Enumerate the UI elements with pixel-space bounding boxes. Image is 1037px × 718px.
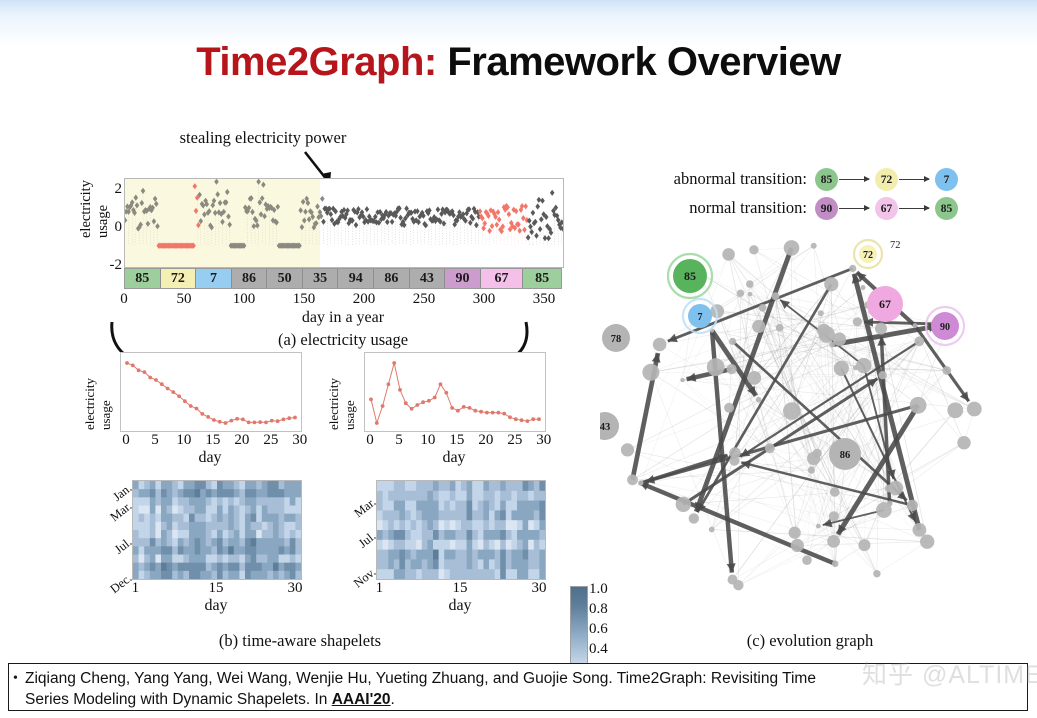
title-rest: Framework Overview <box>437 40 841 84</box>
timeseries-plot <box>124 178 564 268</box>
legend-label: normal transition: <box>645 198 815 218</box>
shapelet-xtick: 20 <box>478 432 493 449</box>
shapelet-xtick: 10 <box>420 432 435 449</box>
page-title: Time2Graph: Framework Overview <box>0 40 1037 85</box>
segment-label: 35 <box>313 271 327 287</box>
shapelet-xtick: 10 <box>176 432 191 449</box>
legend-node-chain: 906785 <box>815 195 985 221</box>
heatmap-right: Mar. Jul. Nov. 1 15 30 day <box>330 476 560 596</box>
shapelet-xtick: 30 <box>292 432 307 449</box>
panel-b-caption: (b) time-aware shapelets <box>120 631 480 651</box>
shapelet-right-xticks: 051015202530 <box>364 432 544 450</box>
segment-label: 86 <box>242 271 256 287</box>
svg-text:86: 86 <box>840 450 851 461</box>
segment-7[interactable]: 86 <box>374 269 410 288</box>
shapelet-segment-bar: 85727865035948643906785 <box>124 268 562 289</box>
shapelet-left-xticks: 051015202530 <box>120 432 300 450</box>
shapelet-right-ylabel: electricity usage <box>326 352 358 430</box>
segment-3[interactable]: 86 <box>232 269 268 288</box>
heatmap-left-xlabel: day <box>132 597 300 615</box>
shapelet-xtick: 15 <box>449 432 464 449</box>
svg-text:72: 72 <box>863 250 873 261</box>
legend-node-85[interactable]: 85 <box>815 168 838 191</box>
panel-a-xtick: 200 <box>353 291 376 308</box>
shapelet-left: electricity usage 051015202530 day <box>86 348 306 468</box>
panel-a-xtick: 100 <box>233 291 256 308</box>
svg-text:7: 7 <box>698 312 703 323</box>
segment-0[interactable]: 85 <box>125 269 161 288</box>
segment-11[interactable]: 85 <box>523 269 561 288</box>
heatmap-right-ylabel-1: Jul. <box>334 529 379 569</box>
svg-text:85: 85 <box>684 269 696 283</box>
heatmap-left-ylabel-3: Dec. <box>90 571 135 611</box>
legend-row-normal: normal transition:906785 <box>645 195 985 221</box>
panel-c-caption: (c) evolution graph <box>600 631 1020 651</box>
legend-arrow-icon <box>899 179 929 180</box>
heatmap-right-xlabel: day <box>376 597 544 615</box>
evolution-graph-canvas: 784386 85772679072 <box>600 226 1020 616</box>
heatmap-left-ylabel-2: Jul. <box>90 535 135 575</box>
segment-label: 7 <box>210 271 217 287</box>
legend-node-72[interactable]: 72 <box>875 168 898 191</box>
heatmap-right-xticks: 1 15 30 <box>376 580 544 598</box>
segment-8[interactable]: 43 <box>410 269 446 288</box>
svg-text:78: 78 <box>611 334 622 345</box>
panel-a-yticks: 2 0 -2 <box>102 180 122 280</box>
heatmap-left-grid <box>132 480 302 580</box>
panel-a-xtick: 250 <box>413 291 436 308</box>
heatmap-right-ylabel-2: Nov. <box>334 565 379 605</box>
shapelet-right: electricity usage 051015202530 day <box>330 348 550 468</box>
legend-arrow-icon <box>839 179 869 180</box>
segment-label: 43 <box>420 271 434 287</box>
heatmap-left-xticks: 1 15 30 <box>132 580 300 598</box>
shapelet-xtick: 20 <box>234 432 249 449</box>
shapelet-xtick: 0 <box>366 432 374 449</box>
figure-area: stealing electricity power electricity u… <box>0 108 1037 653</box>
shapelet-xtick: 5 <box>151 432 159 449</box>
heatmap-right-ylabel-0: Mar. <box>334 495 379 535</box>
panel-a-xticks: 050100150200250300350 <box>124 291 562 309</box>
segment-6[interactable]: 94 <box>338 269 374 288</box>
panel-a-xtick: 0 <box>120 291 128 308</box>
segment-label: 94 <box>349 271 363 287</box>
stealing-annotation-label: stealing electricity power <box>138 128 388 148</box>
citation-text: Ziqiang Cheng, Yang Yang, Wei Wang, Wenj… <box>25 669 1015 711</box>
segment-1[interactable]: 72 <box>161 269 197 288</box>
legend-label: abnormal transition: <box>645 169 815 189</box>
legend-node-90[interactable]: 90 <box>815 197 838 220</box>
svg-text:67: 67 <box>879 297 891 311</box>
citation-line-1: Ziqiang Cheng, Yang Yang, Wei Wang, Wenj… <box>25 670 816 687</box>
shapelet-xtick: 5 <box>395 432 403 449</box>
shapelet-xtick: 15 <box>205 432 220 449</box>
timeseries-markers <box>125 179 563 267</box>
citation-bullet-icon: • <box>13 671 18 687</box>
segment-label: 85 <box>535 271 549 287</box>
shapelet-xtick: 0 <box>122 432 130 449</box>
transition-legend: abnormal transition:85727normal transiti… <box>645 166 985 224</box>
segment-label: 72 <box>171 271 185 287</box>
svg-text:72: 72 <box>890 240 901 251</box>
segment-4[interactable]: 50 <box>267 269 303 288</box>
evolution-graph-svg: 784386 85772679072 <box>600 226 1020 616</box>
citation-line-2-post: . <box>391 691 395 708</box>
panel-a-xtick: 350 <box>533 291 556 308</box>
segment-label: 50 <box>278 271 292 287</box>
segment-label: 86 <box>384 271 398 287</box>
legend-arrow-icon <box>899 208 929 209</box>
svg-text:43: 43 <box>600 422 610 433</box>
shapelet-left-xlabel: day <box>120 449 300 467</box>
citation-line-2-pre: Series Modeling with Dynamic Shapelets. … <box>25 691 332 708</box>
shapelet-right-xlabel: day <box>364 449 544 467</box>
citation-box: • Ziqiang Cheng, Yang Yang, Wei Wang, We… <box>8 663 1028 711</box>
heatmap-right-grid <box>376 480 546 580</box>
shapelet-left-ylabel: electricity usage <box>82 352 114 430</box>
segment-2[interactable]: 7 <box>196 269 232 288</box>
segment-5[interactable]: 35 <box>303 269 339 288</box>
shapelet-right-plot <box>364 352 546 432</box>
panel-a-electricity-usage: stealing electricity power electricity u… <box>86 128 566 353</box>
shapelet-xtick: 25 <box>507 432 522 449</box>
shapelet-xtick: 25 <box>263 432 278 449</box>
segment-label: 67 <box>494 271 508 287</box>
segment-9[interactable]: 90 <box>445 269 481 288</box>
legend-node-67[interactable]: 67 <box>875 197 898 220</box>
segment-label: 85 <box>135 271 149 287</box>
legend-row-abnormal: abnormal transition:85727 <box>645 166 985 192</box>
panel-a-xtick: 300 <box>473 291 496 308</box>
title-accent: Time2Graph: <box>196 40 437 84</box>
panel-a-xtick: 150 <box>293 291 316 308</box>
legend-node-85[interactable]: 85 <box>935 197 958 220</box>
panel-c-evolution-graph: abnormal transition:85727normal transiti… <box>600 144 1020 654</box>
slide-background: Time2Graph: Framework Overview stealing … <box>0 0 1037 718</box>
legend-arrow-icon <box>839 208 869 209</box>
legend-node-chain: 85727 <box>815 166 985 192</box>
heatmap-left: Jan. Mar. Jul. Dec. 1 15 30 day <box>86 476 316 596</box>
citation-venue: AAAI'20 <box>332 691 391 708</box>
legend-node-7[interactable]: 7 <box>935 168 958 191</box>
shapelet-xtick: 30 <box>536 432 551 449</box>
svg-text:90: 90 <box>940 322 950 333</box>
segment-10[interactable]: 67 <box>481 269 523 288</box>
panel-a-xtick: 50 <box>177 291 192 308</box>
segment-label: 90 <box>455 271 469 287</box>
shapelet-left-plot <box>120 352 302 432</box>
